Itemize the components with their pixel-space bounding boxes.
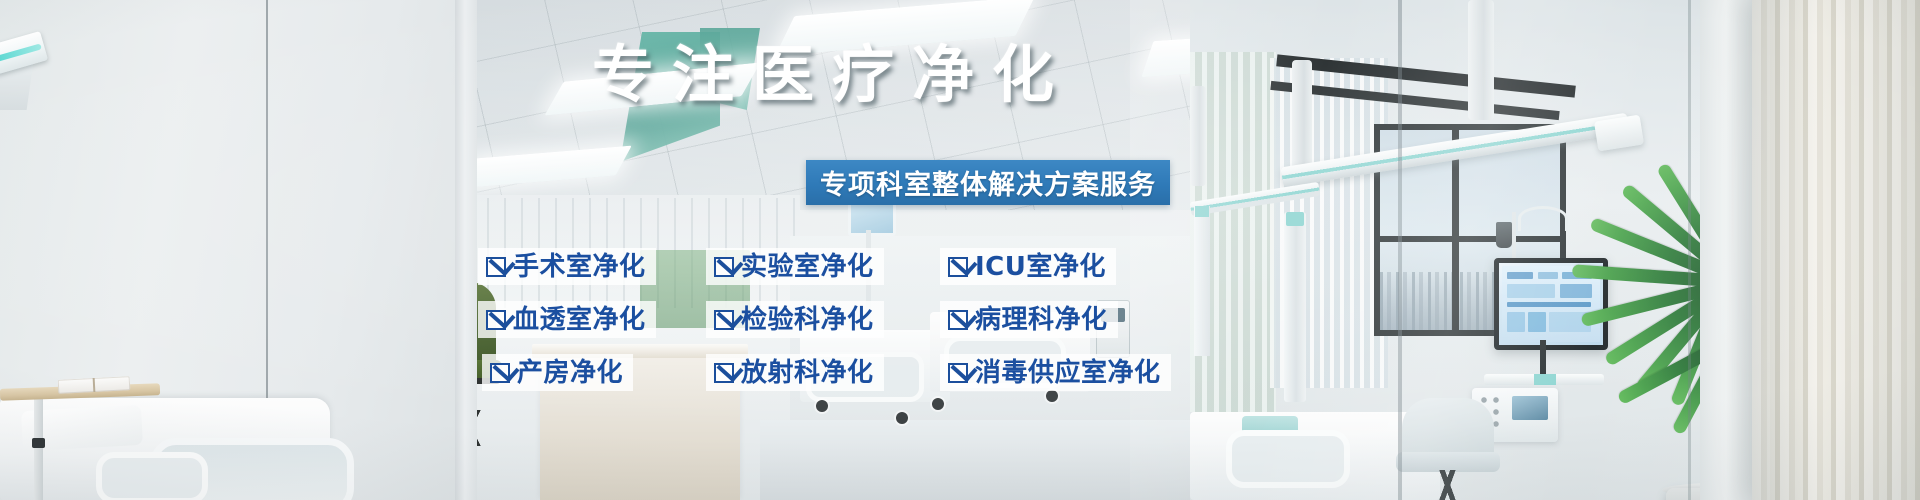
checkbox-checked-icon <box>486 310 506 330</box>
visitor-armchair-seat <box>1396 452 1500 472</box>
feature-item-clinical-lab[interactable]: 检验科净化 <box>706 301 884 338</box>
iv-bag <box>1496 222 1512 248</box>
banner-headline: 专注医疗净化 <box>592 44 1072 106</box>
feature-label: ICU室净化 <box>975 254 1106 280</box>
bed-side-rail <box>96 452 208 500</box>
feature-label: 病理科净化 <box>975 307 1108 333</box>
checkbox-checked-icon <box>948 363 968 383</box>
checkbox-checked-icon <box>714 257 734 277</box>
banner-subtitle-text: 专项科室整体解决方案服务 <box>820 163 1156 202</box>
glass-partition-mullion <box>1688 0 1691 500</box>
checkbox-checked-icon <box>948 257 968 277</box>
visitor-armchair-legs <box>1398 470 1498 500</box>
icu-bed-side-rail <box>1226 430 1350 488</box>
feature-item-cssd[interactable]: 消毒供应室净化 <box>940 354 1171 391</box>
checkbox-checked-icon <box>714 310 734 330</box>
feature-label: 实验室净化 <box>741 254 874 280</box>
checkbox-checked-icon <box>714 363 734 383</box>
ward-floor <box>760 420 1230 500</box>
checkbox-checked-icon <box>490 363 510 383</box>
feature-item-radiology[interactable]: 放射科净化 <box>706 354 884 391</box>
checkbox-checked-icon <box>948 310 968 330</box>
left-wall-edge <box>455 0 477 500</box>
feature-row: 血透室净化 检验科净化 病理科净化 <box>478 301 1238 354</box>
feature-label: 放射科净化 <box>741 360 874 386</box>
overbed-table-leg <box>34 396 43 500</box>
feature-row: 产房净化 放射科净化 消毒供应室净化 <box>478 354 1238 407</box>
wall-column <box>1700 0 1758 500</box>
ceiling-drop-column <box>1190 86 1206 186</box>
feature-label: 手术室净化 <box>513 254 646 280</box>
feature-label: 产房净化 <box>517 360 623 386</box>
banner-subtitle-bar: 专项科室整体解决方案服务 <box>806 160 1170 205</box>
glass-partition-mullion <box>1398 0 1402 500</box>
feature-item-pathology[interactable]: 病理科净化 <box>940 301 1118 338</box>
feature-label: 检验科净化 <box>741 307 874 333</box>
feature-row: 手术室净化 实验室净化 ICU室净化 <box>478 248 1238 301</box>
checkbox-checked-icon <box>486 257 506 277</box>
medical-cleanroom-banner: 专注医疗净化 专项科室整体解决方案服务 手术室净化 实验室净化 ICU室净化 血… <box>0 0 1920 500</box>
feature-label: 消毒供应室净化 <box>975 360 1161 386</box>
feature-item-icu[interactable]: ICU室净化 <box>940 248 1116 285</box>
feature-item-delivery-room[interactable]: 产房净化 <box>482 354 633 391</box>
ceiling-drop-column <box>1468 0 1494 120</box>
feature-item-dialysis-room[interactable]: 血透室净化 <box>478 301 656 338</box>
pendant-service-column <box>1284 212 1306 402</box>
service-feature-grid: 手术室净化 实验室净化 ICU室净化 血透室净化 检验科净化 病理科 <box>478 248 1238 407</box>
bed-caster-wheel <box>896 412 908 424</box>
feature-item-surgery-room[interactable]: 手术室净化 <box>478 248 656 285</box>
vertical-blinds-shading <box>1752 0 1920 500</box>
feature-label: 血透室净化 <box>513 307 646 333</box>
feature-item-laboratory[interactable]: 实验室净化 <box>706 248 884 285</box>
